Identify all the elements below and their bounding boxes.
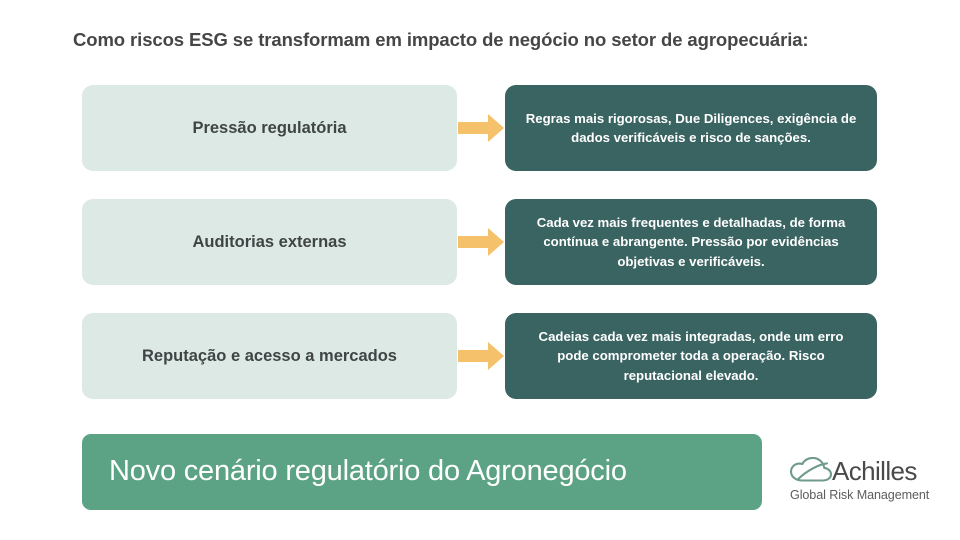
logo-tagline: Global Risk Management xyxy=(790,488,949,502)
brand-logo: Achilles Global Risk Management xyxy=(789,455,949,507)
arrow-right-icon xyxy=(458,342,504,370)
logo-row: Achilles xyxy=(789,455,949,486)
arrow-right-icon xyxy=(458,114,504,142)
slide-canvas: Como riscos ESG se transformam em impact… xyxy=(0,0,960,540)
effect-box[interactable]: Regras mais rigorosas, Due Diligences, e… xyxy=(505,85,877,171)
cause-box[interactable]: Auditorias externas xyxy=(82,199,457,285)
flow-row: Reputação e acesso a mercados Cadeias ca… xyxy=(0,313,960,399)
cause-label: Pressão regulatória xyxy=(192,118,346,139)
effect-box[interactable]: Cadeias cada vez mais integradas, onde u… xyxy=(505,313,877,399)
effect-label: Cadeias cada vez mais integradas, onde u… xyxy=(521,327,861,384)
effect-label: Regras mais rigorosas, Due Diligences, e… xyxy=(521,109,861,147)
flow-row: Auditorias externas Cada vez mais freque… xyxy=(0,199,960,285)
effect-box[interactable]: Cada vez mais frequentes e detalhadas, d… xyxy=(505,199,877,285)
page-title: Como riscos ESG se transformam em impact… xyxy=(73,29,903,51)
cause-box[interactable]: Reputação e acesso a mercados xyxy=(82,313,457,399)
cause-box[interactable]: Pressão regulatória xyxy=(82,85,457,171)
logo-wordmark: Achilles xyxy=(832,458,917,484)
conclusion-banner: Novo cenário regulatório do Agronegócio xyxy=(82,434,762,510)
effect-label: Cada vez mais frequentes e detalhadas, d… xyxy=(521,213,861,270)
cause-label: Reputação e acesso a mercados xyxy=(142,346,397,367)
conclusion-banner-text: Novo cenário regulatório do Agronegócio xyxy=(109,456,627,488)
cause-label: Auditorias externas xyxy=(192,232,346,253)
flow-row: Pressão regulatória Regras mais rigorosa… xyxy=(0,85,960,171)
arrow-right-icon xyxy=(458,228,504,256)
achilles-cloud-icon xyxy=(789,457,833,484)
